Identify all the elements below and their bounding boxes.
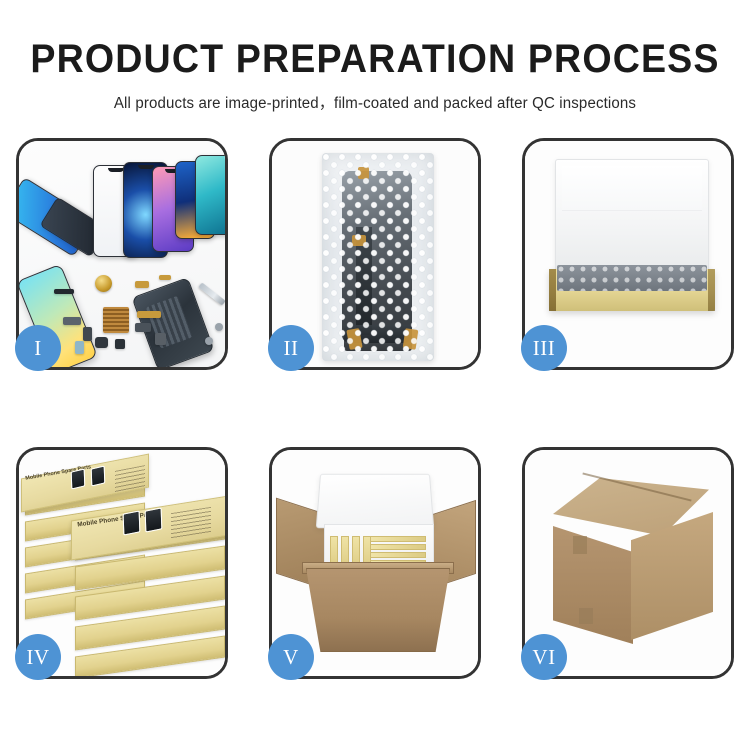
bubble-wrap-bag [322, 153, 434, 361]
carton-tape-patch [573, 536, 587, 554]
step-badge-1: I [15, 325, 61, 371]
process-step-2: II [269, 138, 481, 370]
speaker-component [95, 275, 112, 292]
page-title: PRODUCT PREPARATION PROCESS [23, 38, 728, 80]
process-step-1: I [16, 138, 228, 370]
spare-part [75, 341, 84, 354]
box-print-screen [71, 468, 86, 489]
spare-part [83, 327, 92, 341]
step-badge-4: IV [15, 634, 61, 680]
spare-part [155, 333, 166, 345]
connector-grid-component [103, 307, 129, 333]
process-step-5: V [269, 447, 481, 679]
process-step-grid: I II [16, 138, 734, 679]
box-print-screen [91, 465, 106, 486]
process-step-4: Mobile Phone Spare Parts Mobile Phone Sp… [16, 447, 228, 679]
step-badge-2: II [268, 325, 314, 371]
step-badge-3: III [521, 325, 567, 371]
spare-part [205, 337, 213, 345]
spare-part [137, 311, 161, 318]
box-print-screen [145, 507, 163, 532]
spare-part [135, 281, 149, 288]
phone-teal-wave [195, 155, 225, 235]
yellow-box [370, 536, 426, 542]
yellow-box [370, 552, 426, 558]
spare-part [215, 323, 223, 331]
bubble-texture [322, 153, 434, 361]
styrofoam-lid [316, 474, 434, 528]
product-preparation-infographic: PRODUCT PREPARATION PROCESS All products… [0, 0, 750, 750]
bubble-wrap-filling [557, 265, 707, 291]
yellow-box [370, 544, 426, 550]
spare-part [115, 339, 125, 349]
page-subtitle: All products are image-printed，film-coat… [11, 91, 739, 113]
process-step-3: III [522, 138, 734, 370]
spare-part [54, 289, 74, 294]
carton-tape-patch [579, 608, 593, 624]
spare-part [63, 317, 81, 325]
carton-body [306, 568, 450, 652]
spare-part [159, 275, 171, 280]
spare-part [95, 337, 108, 348]
process-step-6: VI [522, 447, 734, 679]
white-foam-lid [555, 159, 709, 275]
step-badge-6: VI [521, 634, 567, 680]
header: PRODUCT PREPARATION PROCESS All products… [0, 0, 750, 113]
box-print-screen [123, 510, 141, 535]
spare-part [135, 323, 151, 332]
step-badge-5: V [268, 634, 314, 680]
